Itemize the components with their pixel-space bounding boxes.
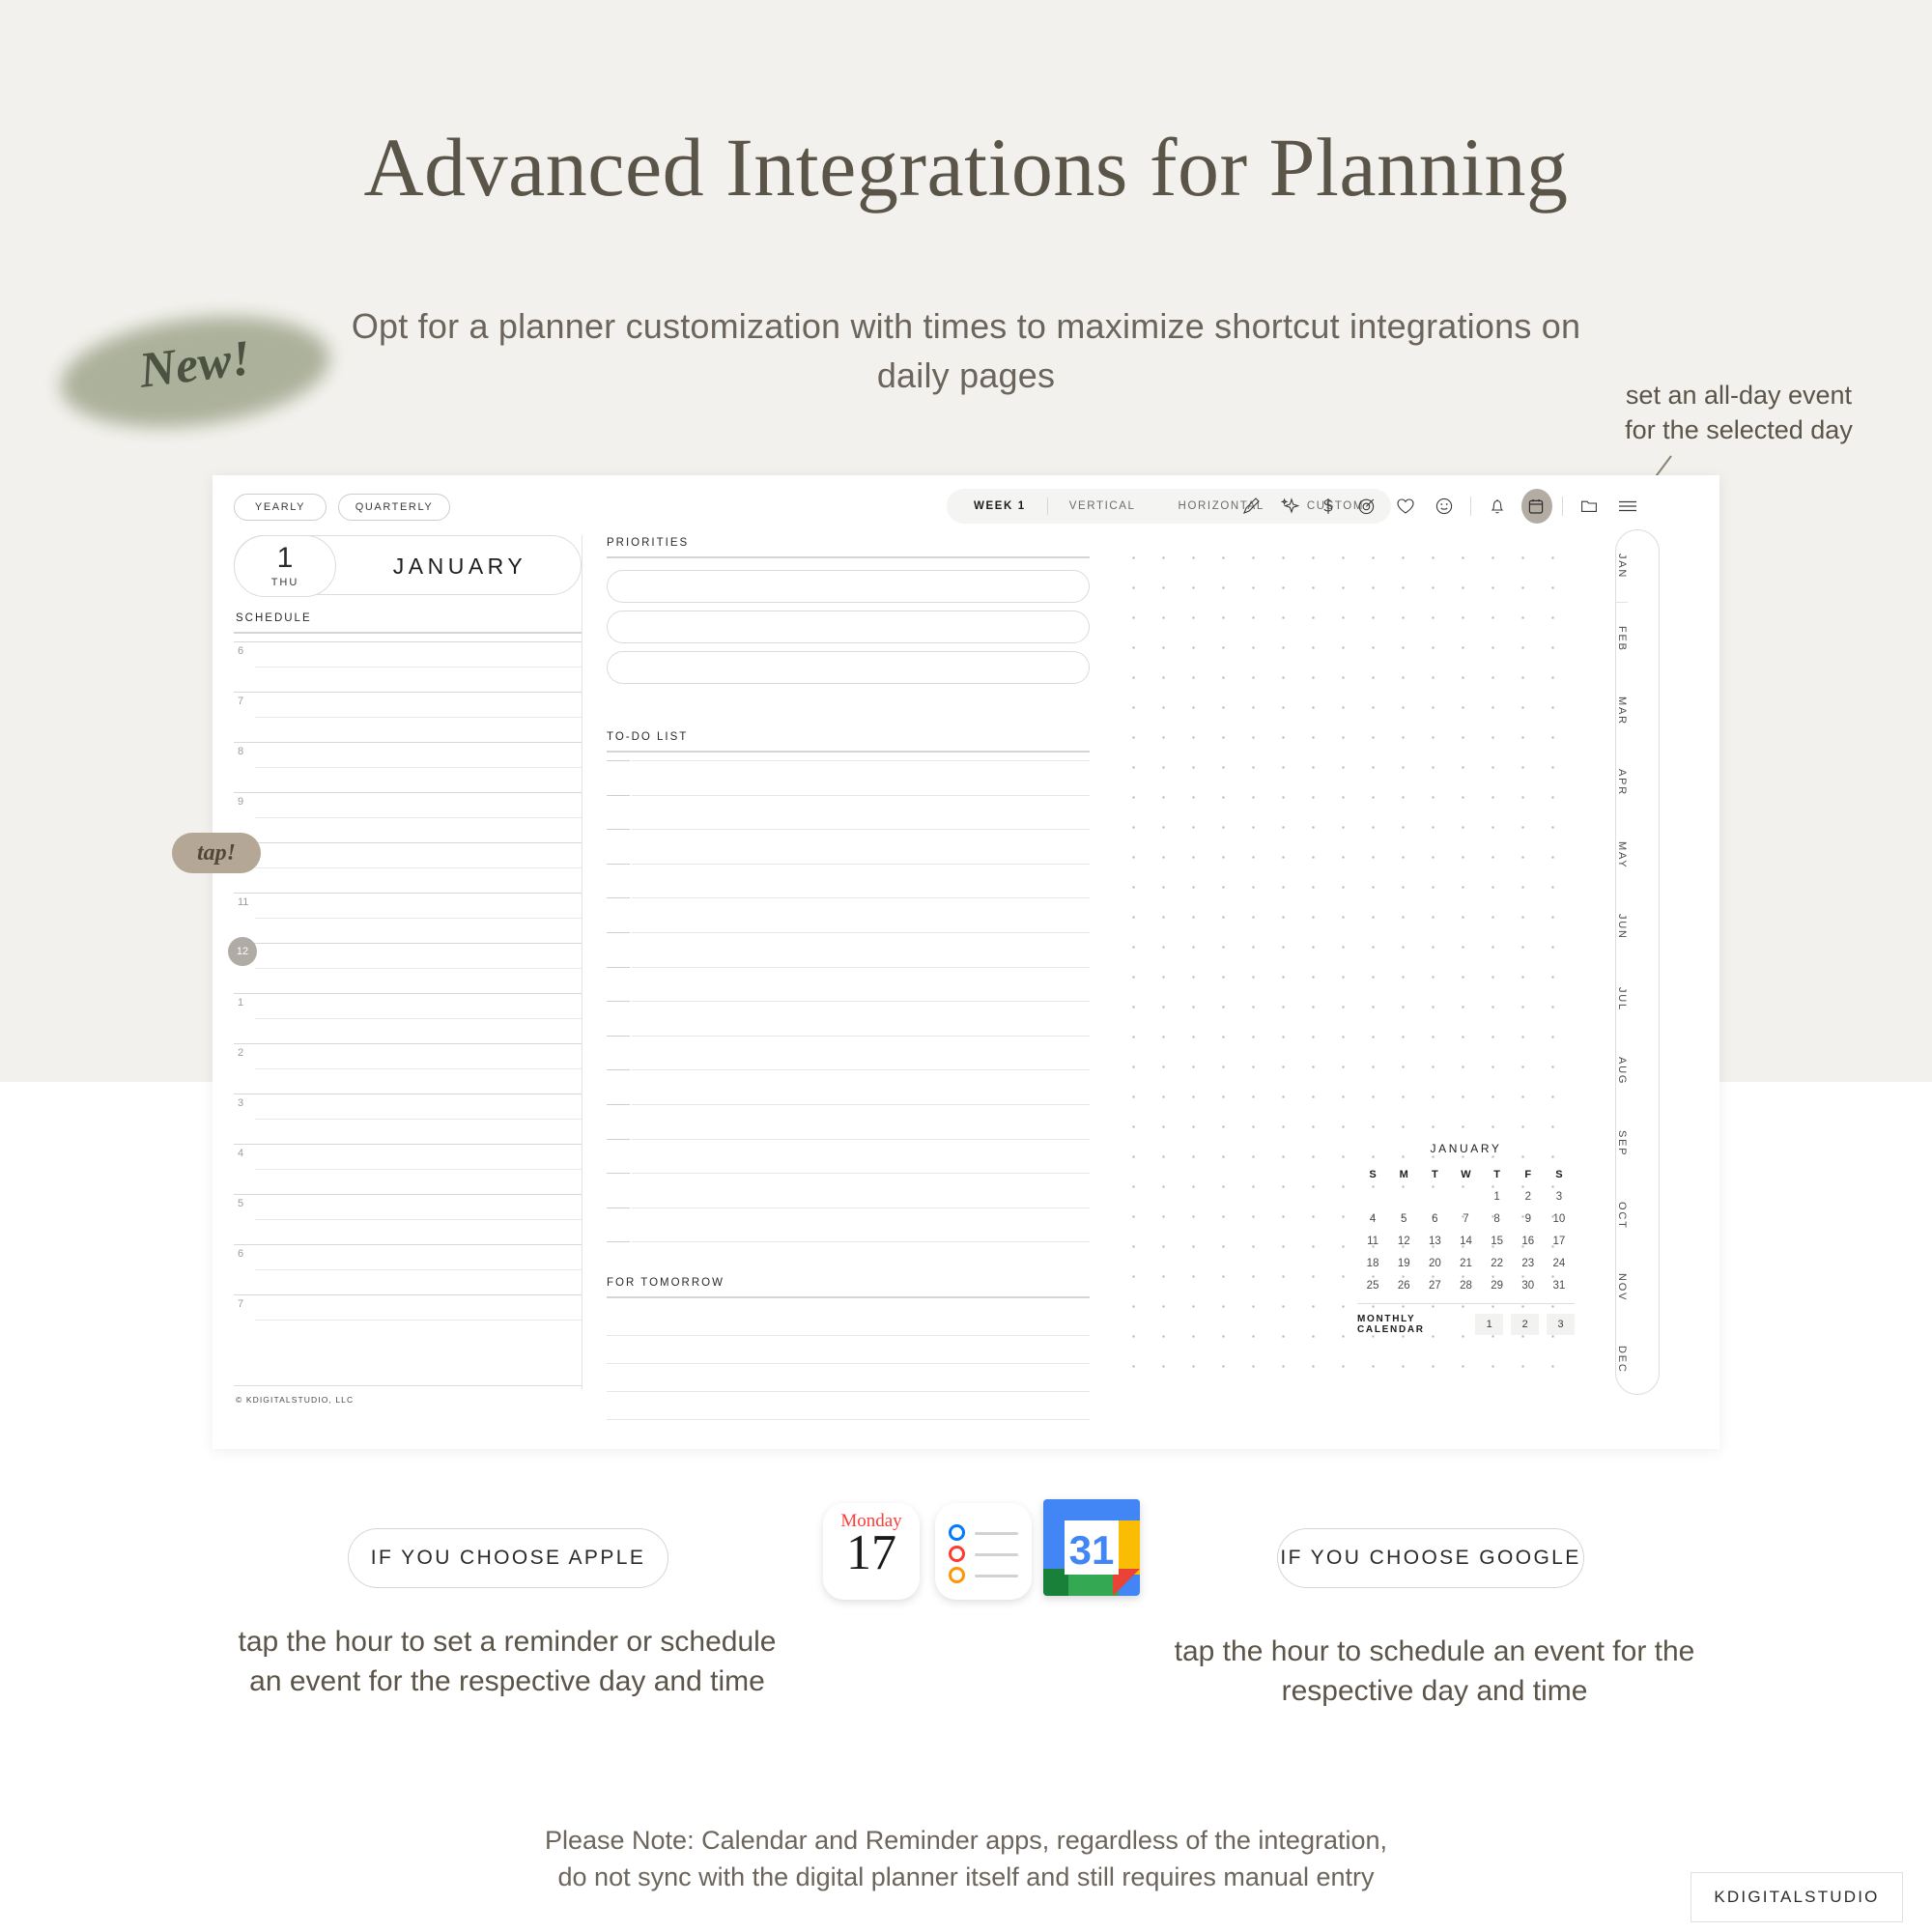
mini-calendar-blank — [1419, 1191, 1450, 1203]
apple-reminders-icon[interactable] — [935, 1503, 1032, 1600]
mini-calendar-day[interactable]: 22 — [1482, 1258, 1513, 1269]
mini-calendar-weekday: S — [1544, 1169, 1575, 1180]
tomorrow-rule — [607, 1296, 1090, 1298]
todo-checkbox-tick[interactable] — [607, 1139, 630, 1140]
todo-write-line — [632, 760, 1090, 761]
hour-label[interactable]: 2 — [238, 1047, 243, 1059]
todo-checkbox-tick[interactable] — [607, 795, 630, 796]
todo-line[interactable] — [607, 1173, 1090, 1207]
apple-calendar-day: 17 — [823, 1528, 920, 1578]
google-calendar-glyph: 31 — [1043, 1499, 1140, 1596]
todo-line[interactable] — [607, 1139, 1090, 1174]
menu-icon[interactable] — [1608, 487, 1647, 526]
hour-line-half — [255, 1320, 582, 1321]
google-caption: tap the hour to schedule an event for th… — [1150, 1633, 1719, 1712]
monthly-calendar-page-2[interactable]: 2 — [1511, 1314, 1539, 1335]
hour-line-half — [255, 717, 582, 718]
dollar-icon[interactable] — [1309, 487, 1348, 526]
smiley-icon[interactable] — [1425, 487, 1463, 526]
todo-line[interactable] — [607, 864, 1090, 898]
schedule-hour-list: 67891011121234567 — [234, 641, 582, 1345]
mini-calendar-day[interactable]: 11 — [1357, 1236, 1388, 1247]
mini-calendar-day[interactable]: 2 — [1513, 1191, 1544, 1203]
todo-write-line — [632, 864, 1090, 865]
hour-line-half — [255, 1119, 582, 1120]
todo-write-line — [632, 829, 1090, 830]
mini-calendar-day[interactable]: 18 — [1357, 1258, 1388, 1269]
mini-calendar-day[interactable]: 9 — [1513, 1213, 1544, 1225]
reminder-row-1 — [949, 1524, 1018, 1542]
footer-note: Please Note: Calendar and Reminder apps,… — [386, 1822, 1546, 1896]
reminder-line-2 — [975, 1553, 1018, 1556]
schedule-section-rule — [234, 632, 582, 634]
todo-write-line — [632, 1001, 1090, 1002]
tomorrow-line[interactable] — [607, 1336, 1090, 1364]
mini-calendar-day[interactable]: 19 — [1388, 1258, 1419, 1269]
page-title: Advanced Integrations for Planning — [0, 124, 1932, 211]
date-day-number: 1 — [277, 544, 294, 573]
mini-calendar-day[interactable]: 13 — [1419, 1236, 1450, 1247]
month-tab-feb[interactable]: FEB — [1616, 603, 1628, 675]
month-tab-apr[interactable]: APR — [1616, 747, 1628, 819]
schedule-hour-row[interactable]: 7 — [234, 692, 582, 742]
mini-calendar: JANUARY SMTWTFS1234567891011121314151617… — [1357, 1142, 1575, 1335]
mini-calendar-weekday: T — [1419, 1169, 1450, 1180]
mini-calendar-day[interactable]: 16 — [1513, 1236, 1544, 1247]
todo-checkbox-tick[interactable] — [607, 829, 630, 830]
mini-calendar-footer: MONTHLY CALENDAR 1 2 3 — [1357, 1314, 1575, 1335]
todo-line[interactable] — [607, 795, 1090, 830]
google-calendar-icon[interactable]: 31 — [1043, 1499, 1140, 1596]
todo-write-line — [632, 1241, 1090, 1242]
priorities-rule — [607, 556, 1090, 558]
month-tab-may[interactable]: MAY — [1616, 819, 1628, 892]
mini-calendar-day[interactable]: 29 — [1482, 1280, 1513, 1292]
mini-calendar-day[interactable]: 21 — [1450, 1258, 1481, 1269]
toolbar-divider-2 — [1562, 497, 1563, 516]
todo-line[interactable] — [607, 760, 1090, 795]
mini-calendar-day[interactable]: 4 — [1357, 1213, 1388, 1225]
hour-line-half — [255, 667, 582, 668]
priority-input-1[interactable] — [607, 570, 1090, 603]
schedule-hour-row[interactable]: 10 — [234, 842, 582, 893]
todo-line[interactable] — [607, 932, 1090, 967]
date-month-name: JANUARY — [337, 536, 582, 596]
todo-checkbox-tick[interactable] — [607, 760, 630, 761]
toolbar-divider-1 — [1470, 497, 1471, 516]
todo-write-line — [632, 1036, 1090, 1037]
todo-line[interactable] — [607, 1001, 1090, 1036]
month-tab-jan[interactable]: JAN — [1616, 530, 1628, 603]
hour-line-full — [234, 1043, 582, 1044]
hour-label[interactable]: 7 — [238, 696, 243, 707]
mini-calendar-day[interactable]: 6 — [1419, 1213, 1450, 1225]
todo-rule — [607, 751, 1090, 753]
hour-line-half — [255, 1169, 582, 1170]
todo-line[interactable] — [607, 897, 1090, 932]
tab-quarterly[interactable]: QUARTERLY — [338, 494, 450, 521]
todo-line[interactable] — [607, 1241, 1090, 1276]
hour-line-full — [234, 1194, 582, 1195]
mini-calendar-weekday: M — [1388, 1169, 1419, 1180]
callout-text: set an all-day event for the selected da… — [1575, 379, 1903, 447]
reminder-row-3 — [949, 1567, 1018, 1584]
planner-window: YEARLY QUARTERLY WEEK 1 VERTICAL HORIZON… — [213, 475, 1719, 1449]
todo-write-line — [632, 1173, 1090, 1174]
hour-label[interactable]: 5 — [238, 1198, 243, 1209]
todo-checkbox-tick[interactable] — [607, 1104, 630, 1105]
mini-calendar-day[interactable]: 23 — [1513, 1258, 1544, 1269]
todo-line[interactable] — [607, 829, 1090, 864]
hour-label[interactable]: 7 — [238, 1298, 243, 1310]
apple-caption: tap the hour to set a reminder or schedu… — [222, 1623, 792, 1702]
middle-column: PRIORITIES TO-DO LIST FOR TOMORROW — [607, 475, 1090, 1449]
mini-calendar-day[interactable]: 24 — [1544, 1258, 1575, 1269]
callout-line-1: set an all-day event — [1575, 379, 1903, 413]
todo-write-line — [632, 967, 1090, 968]
calendar-icon[interactable] — [1517, 487, 1555, 526]
mini-calendar-blank — [1357, 1191, 1388, 1203]
hour-label[interactable]: 8 — [238, 746, 243, 757]
column-divider — [582, 535, 582, 1389]
todo-checkbox-tick[interactable] — [607, 1207, 630, 1208]
hour-line-full — [234, 893, 582, 894]
mini-calendar-day[interactable]: 28 — [1450, 1280, 1481, 1292]
mini-calendar-day[interactable]: 10 — [1544, 1213, 1575, 1225]
page-subtitle: Opt for a planner customization with tim… — [319, 301, 1613, 400]
todo-write-line — [632, 1139, 1090, 1140]
mini-calendar-day[interactable]: 7 — [1450, 1213, 1481, 1225]
schedule-hour-row[interactable]: 4 — [234, 1144, 582, 1194]
pen-icon[interactable] — [1232, 487, 1270, 526]
schedule-hour-row[interactable]: 11 — [234, 893, 582, 943]
todo-write-line — [632, 1069, 1090, 1070]
date-day-circle[interactable]: 1 THU — [234, 535, 336, 597]
hour-label[interactable]: 6 — [238, 645, 243, 657]
mini-calendar-day[interactable]: 25 — [1357, 1280, 1388, 1292]
month-tab-dec[interactable]: DEC — [1616, 1323, 1628, 1395]
todo-write-line — [632, 932, 1090, 933]
hour-label[interactable]: 4 — [238, 1148, 243, 1159]
schedule-hour-row[interactable]: 9 — [234, 792, 582, 842]
todo-checkbox-tick[interactable] — [607, 932, 630, 933]
footer-note-line-1: Please Note: Calendar and Reminder apps,… — [386, 1822, 1546, 1859]
schedule-hour-row[interactable]: 5 — [234, 1194, 582, 1244]
mini-calendar-blank — [1388, 1191, 1419, 1203]
todo-line[interactable] — [607, 967, 1090, 1002]
todo-line[interactable] — [607, 1036, 1090, 1070]
hour-line-half — [255, 1018, 582, 1019]
month-tab-mar[interactable]: MAR — [1616, 674, 1628, 747]
mini-calendar-blank — [1450, 1191, 1481, 1203]
brand-logo-box: KDIGITALSTUDIO — [1690, 1872, 1903, 1922]
mini-calendar-title: JANUARY — [1357, 1142, 1575, 1155]
hour-line-half — [255, 867, 582, 868]
hour-line-half — [255, 767, 582, 768]
todo-write-line — [632, 1207, 1090, 1208]
mini-calendar-day[interactable]: 8 — [1482, 1213, 1513, 1225]
month-tab-jul[interactable]: JUL — [1616, 963, 1628, 1036]
todo-checkbox-tick[interactable] — [607, 1241, 630, 1242]
todo-write-line — [632, 1104, 1090, 1105]
month-tab-jun[interactable]: JUN — [1616, 891, 1628, 963]
reminder-line-1 — [975, 1532, 1018, 1535]
schedule-section-label: SCHEDULE — [236, 612, 312, 624]
schedule-hour-row[interactable]: 6 — [234, 641, 582, 692]
todo-checkbox-tick[interactable] — [607, 967, 630, 968]
tab-yearly[interactable]: YEARLY — [234, 494, 327, 521]
schedule-hour-row[interactable]: 1 — [234, 993, 582, 1043]
apple-calendar-icon[interactable]: Monday 17 — [823, 1503, 920, 1600]
todo-checkbox-tick[interactable] — [607, 1069, 630, 1070]
schedule-hour-row[interactable]: 6 — [234, 1244, 582, 1294]
planner-footer-rule — [234, 1385, 582, 1386]
mini-calendar-day[interactable]: 12 — [1388, 1236, 1419, 1247]
schedule-hour-row[interactable]: 2 — [234, 1043, 582, 1094]
todo-line-list — [607, 760, 1090, 1276]
reminder-dot-blue — [949, 1524, 965, 1541]
hour-line-full — [234, 842, 582, 843]
hour-line-half — [255, 1068, 582, 1069]
todo-line[interactable] — [607, 1069, 1090, 1104]
tomorrow-line[interactable] — [607, 1364, 1090, 1392]
monthly-calendar-label: MONTHLY CALENDAR — [1357, 1314, 1467, 1335]
mini-calendar-day[interactable]: 17 — [1544, 1236, 1575, 1247]
heart-icon[interactable] — [1386, 487, 1425, 526]
mini-calendar-day[interactable]: 15 — [1482, 1236, 1513, 1247]
monthly-calendar-page-3[interactable]: 3 — [1547, 1314, 1575, 1335]
todo-line[interactable] — [607, 1104, 1090, 1139]
hour-line-full — [234, 692, 582, 693]
hour-line-full — [234, 1244, 582, 1245]
hour-line-full — [234, 641, 582, 642]
mini-calendar-day[interactable]: 31 — [1544, 1280, 1575, 1292]
hour-line-full — [234, 742, 582, 743]
hour-line-half — [255, 1219, 582, 1220]
mini-calendar-day[interactable]: 14 — [1450, 1236, 1481, 1247]
mini-calendar-rule — [1357, 1303, 1575, 1304]
brand-name: KDIGITALSTUDIO — [1714, 1888, 1879, 1907]
reminder-line-3 — [975, 1575, 1018, 1577]
mini-calendar-day[interactable]: 30 — [1513, 1280, 1544, 1292]
schedule-hour-row[interactable]: 12 — [234, 943, 582, 993]
hour-label[interactable]: 12 — [228, 937, 257, 966]
schedule-hour-row[interactable]: 3 — [234, 1094, 582, 1144]
todo-checkbox-tick[interactable] — [607, 1173, 630, 1174]
todo-label: TO-DO LIST — [607, 731, 688, 743]
schedule-hour-row[interactable]: 7 — [234, 1294, 582, 1345]
month-tab-sep[interactable]: SEP — [1616, 1107, 1628, 1179]
tomorrow-line[interactable] — [607, 1308, 1090, 1336]
hour-line-half — [255, 1269, 582, 1270]
todo-line[interactable] — [607, 1207, 1090, 1242]
reminder-dot-orange — [949, 1567, 965, 1583]
tap-badge: tap! — [172, 833, 261, 873]
hour-line-full — [234, 993, 582, 994]
todo-write-line — [632, 795, 1090, 796]
svg-text:31: 31 — [1069, 1527, 1115, 1573]
mini-calendar-weekday: S — [1357, 1169, 1388, 1180]
month-tab-strip: JANFEBMARAPRMAYJUNJULAUGSEPOCTNOVDEC — [1615, 529, 1660, 1395]
reminder-row-2 — [949, 1546, 1018, 1563]
mini-calendar-day[interactable]: 20 — [1419, 1258, 1450, 1269]
hour-line-full — [234, 1094, 582, 1094]
toolbar — [1232, 487, 1647, 526]
choose-apple-button[interactable]: IF YOU CHOOSE APPLE — [348, 1528, 668, 1588]
hour-line-full — [234, 943, 582, 944]
month-tab-oct[interactable]: OCT — [1616, 1179, 1628, 1252]
priority-input-2[interactable] — [607, 611, 1090, 643]
planner-copyright: © KDIGITALSTUDIO, LLC — [236, 1395, 354, 1405]
month-tab-aug[interactable]: AUG — [1616, 1036, 1628, 1108]
todo-checkbox-tick[interactable] — [607, 1036, 630, 1037]
hour-line-half — [255, 918, 582, 919]
hour-line-full — [234, 1294, 582, 1295]
choose-google-button[interactable]: IF YOU CHOOSE GOOGLE — [1277, 1528, 1584, 1588]
bell-icon[interactable] — [1478, 487, 1517, 526]
todo-write-line — [632, 897, 1090, 898]
mini-calendar-day[interactable]: 1 — [1482, 1191, 1513, 1203]
callout-line-2: for the selected day — [1575, 413, 1903, 448]
mini-calendar-day[interactable]: 3 — [1544, 1191, 1575, 1203]
mini-calendar-weekday: T — [1482, 1169, 1513, 1180]
hour-label[interactable]: 1 — [238, 997, 243, 1009]
mini-calendar-weekday: F — [1513, 1169, 1544, 1180]
todo-checkbox-tick[interactable] — [607, 864, 630, 865]
folder-icon[interactable] — [1570, 487, 1608, 526]
new-badge: New! — [60, 319, 330, 425]
hour-label[interactable]: 9 — [238, 796, 243, 808]
tomorrow-line-list — [607, 1308, 1090, 1420]
mini-calendar-day[interactable]: 5 — [1388, 1213, 1419, 1225]
hour-line-half — [255, 817, 582, 818]
priorities-label: PRIORITIES — [607, 537, 689, 549]
mini-calendar-grid: SMTWTFS123456789101112131415161718192021… — [1357, 1169, 1575, 1292]
mini-calendar-weekday: W — [1450, 1169, 1481, 1180]
app-icon-row: Monday 17 31 — [823, 1499, 1142, 1604]
target-icon[interactable] — [1348, 487, 1386, 526]
hour-label[interactable]: 3 — [238, 1097, 243, 1109]
todo-checkbox-tick[interactable] — [607, 897, 630, 898]
todo-checkbox-tick[interactable] — [607, 1001, 630, 1002]
tomorrow-line[interactable] — [607, 1392, 1090, 1420]
priority-input-3[interactable] — [607, 651, 1090, 684]
hour-line-full — [234, 792, 582, 793]
hour-line-full — [234, 1144, 582, 1145]
mini-calendar-day[interactable]: 27 — [1419, 1280, 1450, 1292]
hour-label[interactable]: 6 — [238, 1248, 243, 1260]
schedule-hour-row[interactable]: 8 — [234, 742, 582, 792]
reminder-dot-red — [949, 1546, 965, 1562]
footer-note-line-2: do not sync with the digital planner its… — [386, 1859, 1546, 1895]
hour-label[interactable]: 11 — [238, 896, 248, 908]
month-tab-nov[interactable]: NOV — [1616, 1252, 1628, 1324]
date-header[interactable]: 1 THU JANUARY — [234, 535, 582, 595]
hour-line-half — [255, 968, 582, 969]
tomorrow-label: FOR TOMORROW — [607, 1277, 724, 1289]
mini-calendar-day[interactable]: 26 — [1388, 1280, 1419, 1292]
sparkle-icon[interactable] — [1270, 487, 1309, 526]
date-weekday: THU — [271, 577, 299, 588]
monthly-calendar-page-1[interactable]: 1 — [1475, 1314, 1503, 1335]
